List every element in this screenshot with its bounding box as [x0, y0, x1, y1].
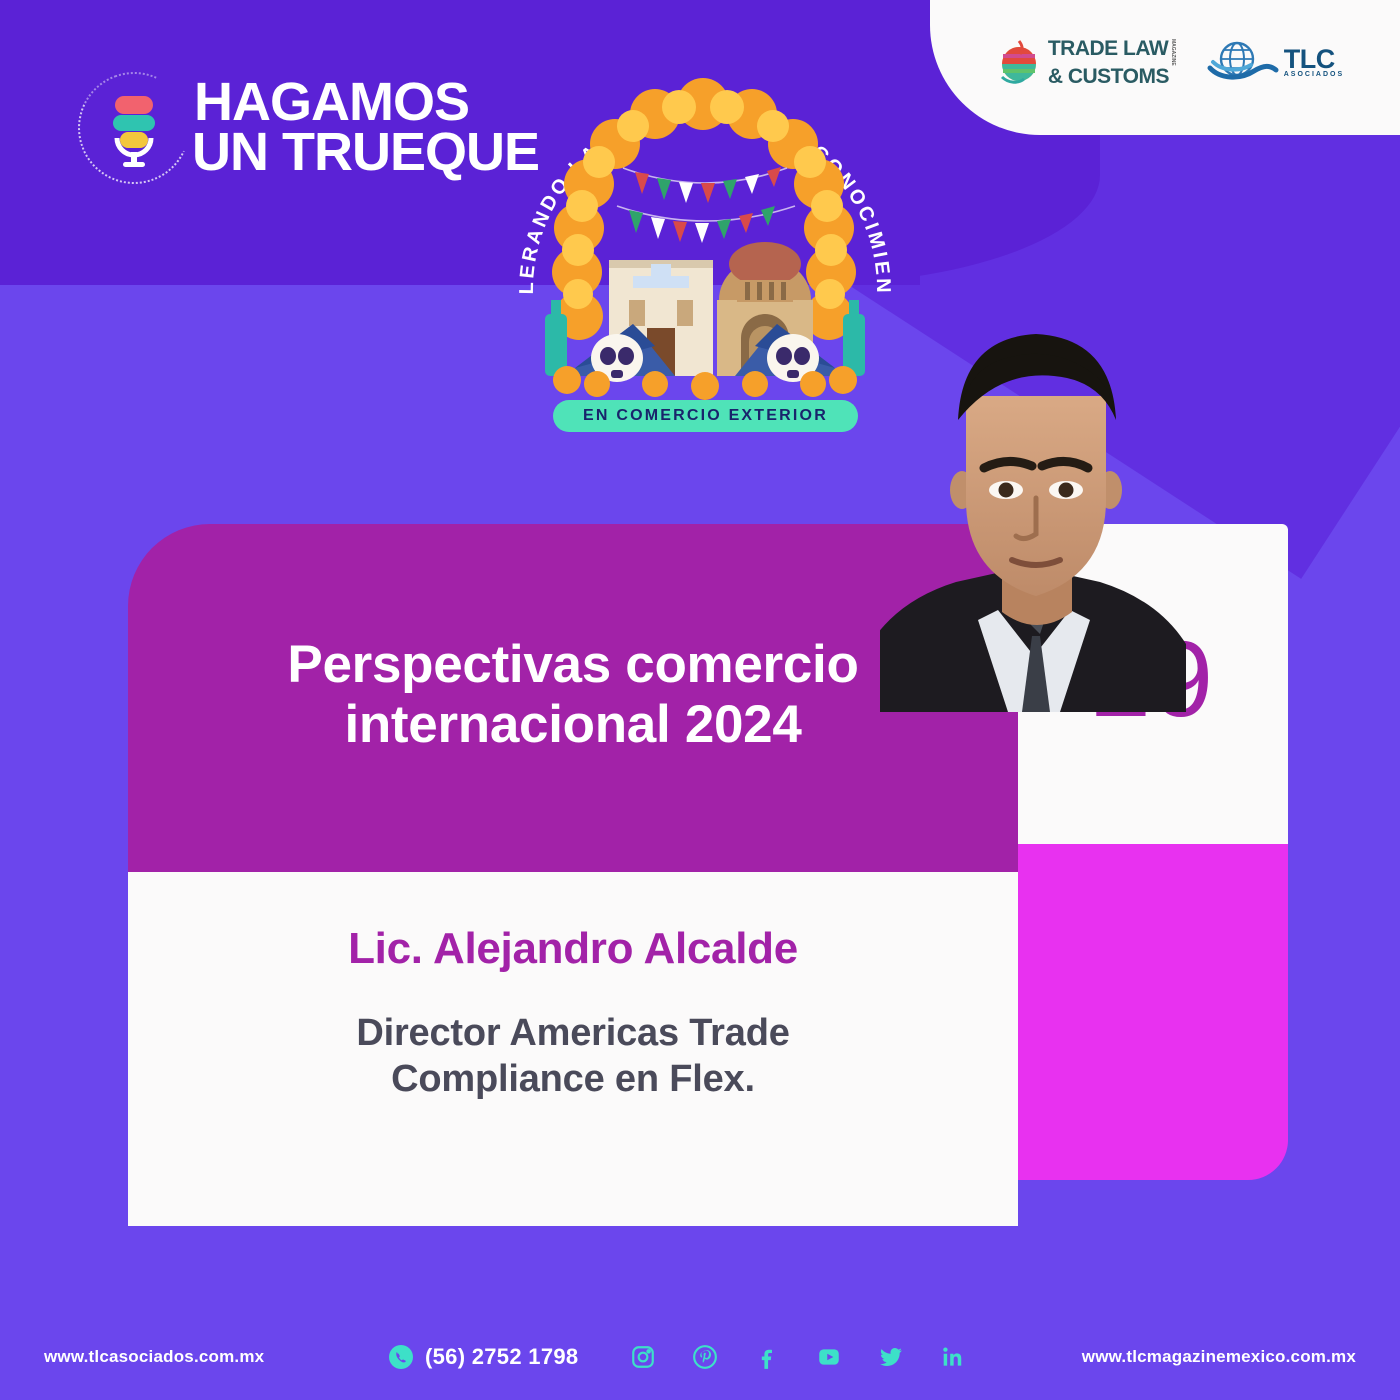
footer-website-right[interactable]: www.tlcmagazinemexico.com.mx [1082, 1347, 1356, 1367]
youtube-icon[interactable] [816, 1344, 842, 1370]
speaker-role-line2: Compliance en Flex. [391, 1058, 755, 1100]
trade-law-line2: & CUSTOMS [1048, 67, 1175, 86]
mexican-arch-marigold-icon [505, 28, 905, 428]
episode-title-line1: Perspectivas comercio [287, 635, 858, 694]
trade-law-suffix: MAGAZINE [1170, 39, 1175, 66]
episode-body-panel: Lic. Alejandro Alcalde Director Americas… [128, 872, 1018, 1226]
footer-website-left[interactable]: www.tlcasociados.com.mx [44, 1347, 264, 1367]
tlc-line1: TLC [1284, 47, 1344, 71]
page-title: Perspectivas comercio internacional 2024 [287, 635, 858, 756]
event-badge: ACELERANDO LA REVOLUCIÓN DE CONOCIMIENTO… [505, 28, 905, 428]
microphone-icon [78, 72, 190, 184]
brand-logo: HAGAMOS UN TRUEQUE [78, 72, 539, 184]
brand-line2: UN TRUEQUE [192, 128, 539, 178]
footer-phone[interactable]: (56) 2752 1798 [388, 1344, 578, 1370]
tlc-globe-swoosh-icon [1204, 35, 1280, 91]
whatsapp-icon[interactable] [388, 1344, 414, 1370]
twitter-icon[interactable] [878, 1344, 904, 1370]
instagram-icon[interactable] [630, 1344, 656, 1370]
tlc-line2: ASOCIADOS [1284, 72, 1344, 78]
partner-logo-panel: TRADE LAW MAGAZINE & CUSTOMS TLC ASOCIAD… [930, 0, 1400, 135]
brand-line1: HAGAMOS [194, 78, 539, 128]
pinterest-icon[interactable] [692, 1344, 718, 1370]
facebook-icon[interactable] [754, 1344, 780, 1370]
linkedin-icon[interactable] [940, 1344, 966, 1370]
footer-social-links [630, 1344, 966, 1370]
trade-law-globe-icon [996, 37, 1042, 89]
accent-block [1018, 844, 1288, 1180]
footer-bar: www.tlcasociados.com.mx (56) 2752 1798 [0, 1314, 1400, 1400]
tlc-asociados-logo: TLC ASOCIADOS [1204, 35, 1344, 91]
speaker-role-line1: Director Americas Trade [356, 1012, 789, 1054]
footer-phone-number: (56) 2752 1798 [425, 1344, 578, 1370]
event-tagline: EN COMERCIO EXTERIOR [553, 400, 858, 432]
speaker-portrait-illustration [880, 292, 1190, 712]
trade-law-line1: TRADE LAW [1048, 39, 1168, 58]
speaker-portrait-photo [880, 292, 1190, 712]
speaker-name: Lic. Alejandro Alcalde [348, 924, 798, 974]
episode-title-line2: internacional 2024 [344, 695, 801, 754]
microphone-glyph-icon [111, 94, 157, 168]
poster-stage: TRADE LAW MAGAZINE & CUSTOMS TLC ASOCIAD… [0, 0, 1400, 1400]
trade-law-and-customs-logo: TRADE LAW MAGAZINE & CUSTOMS [996, 37, 1175, 89]
speaker-role: Director Americas Trade Compliance en Fl… [356, 1010, 789, 1103]
